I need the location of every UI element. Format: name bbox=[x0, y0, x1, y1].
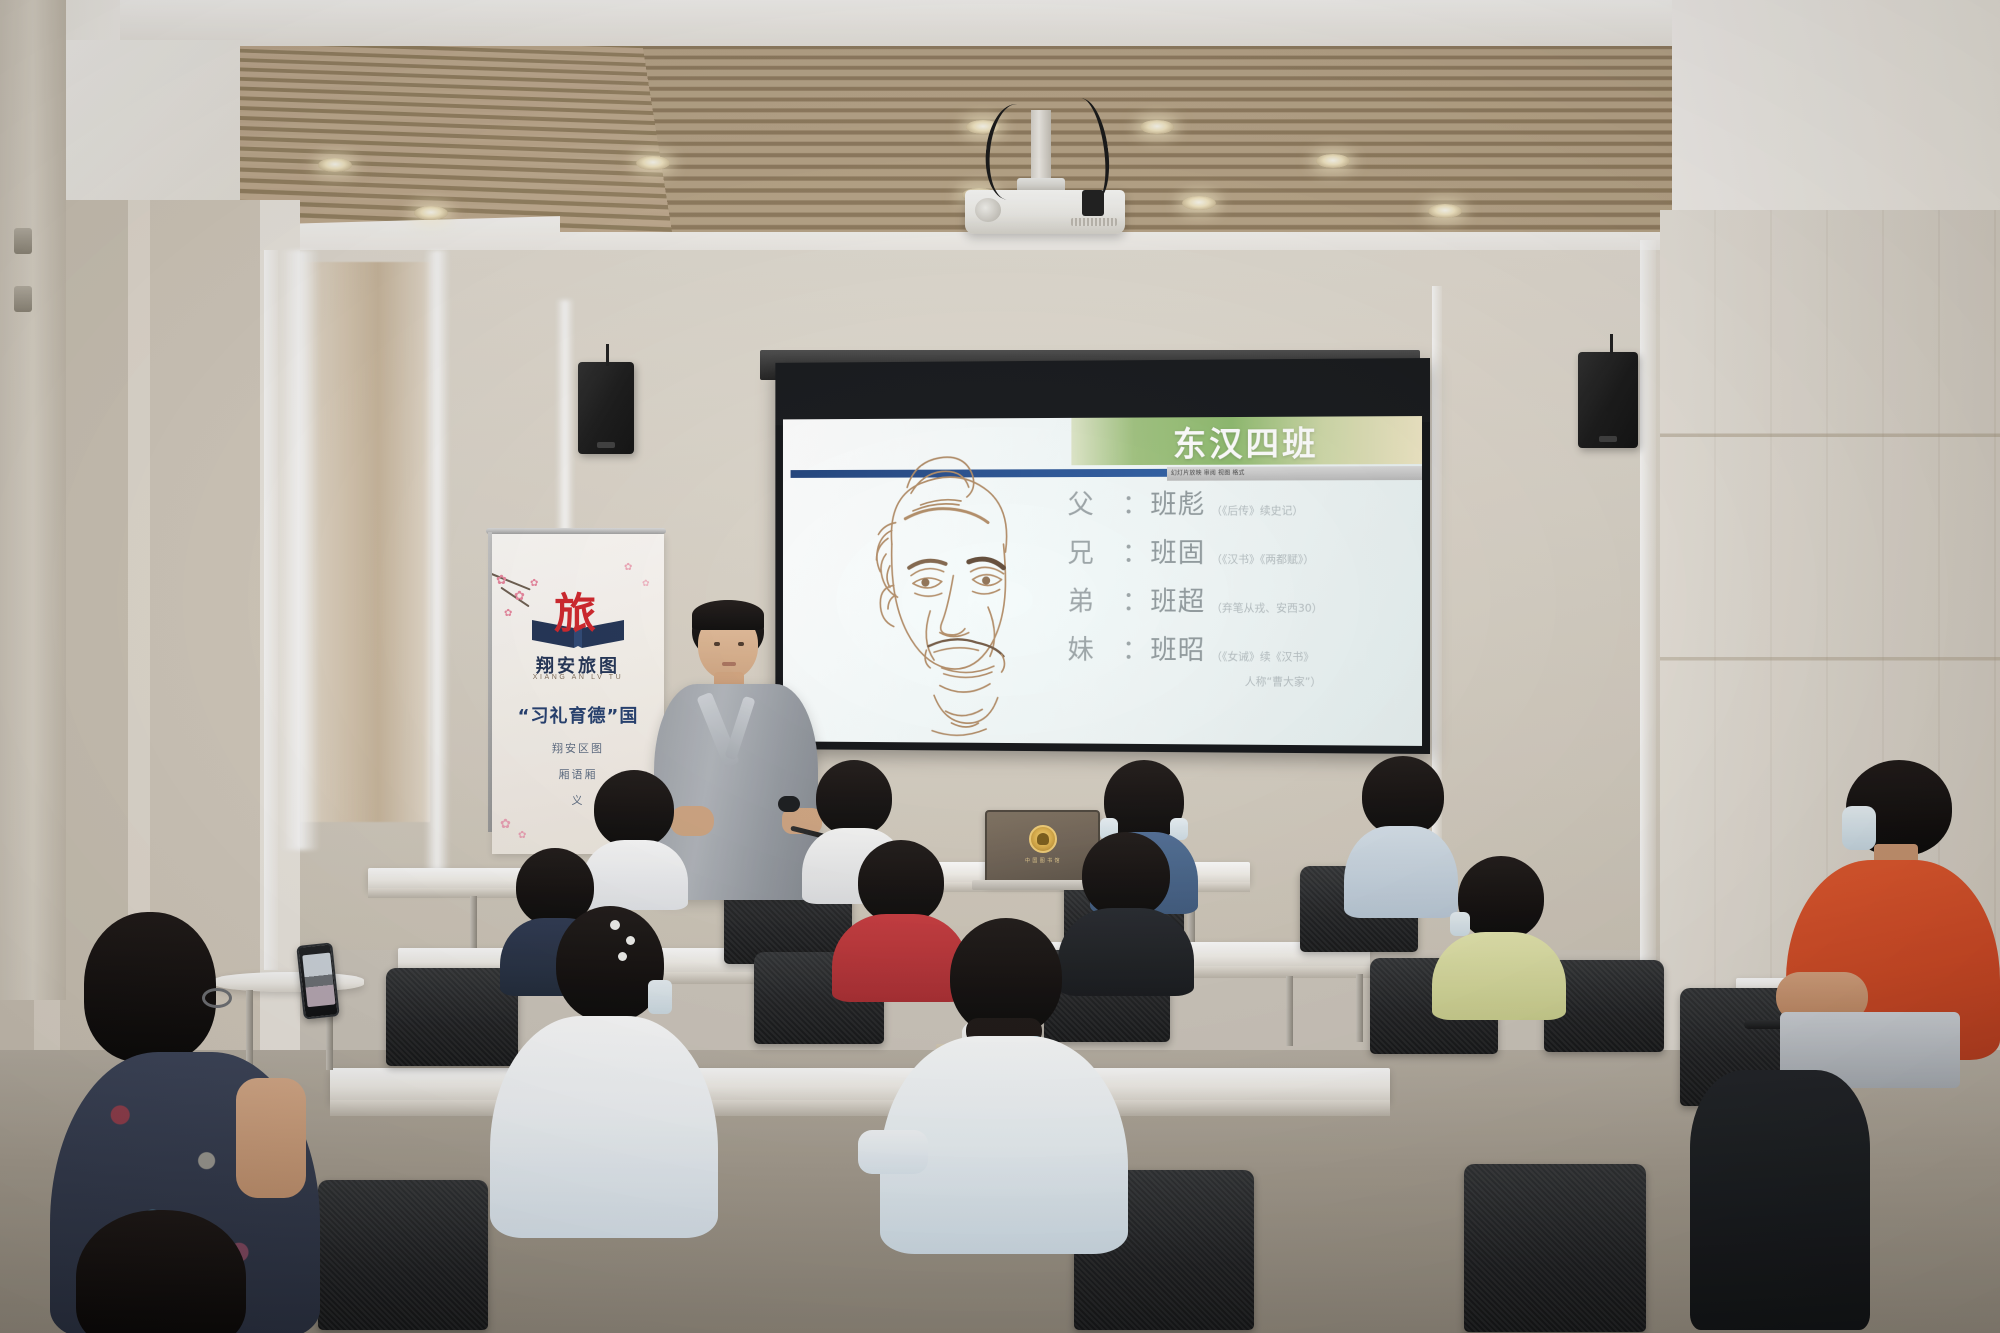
slide-row-colon: ： bbox=[1122, 483, 1148, 522]
plum-blossom-icon: ✿ bbox=[518, 830, 526, 841]
downlight-icon bbox=[1428, 204, 1462, 218]
chair[interactable] bbox=[1464, 1164, 1646, 1332]
plum-blossom-icon: ✿ bbox=[500, 816, 511, 832]
slide-row: 兄 ： 班固 （《汉书》《两都赋》） bbox=[1067, 531, 1422, 570]
adult-arm bbox=[236, 1078, 306, 1198]
slide-row-note: （《后传》续史记） bbox=[1211, 502, 1303, 521]
downlight-icon bbox=[636, 156, 670, 170]
slide-title: 东汉四班 bbox=[1173, 416, 1319, 465]
student-arm bbox=[858, 1130, 928, 1174]
table-row3-front bbox=[330, 1068, 1390, 1102]
cable-clip bbox=[1082, 190, 1104, 216]
door-hinge-icon bbox=[14, 286, 32, 312]
presentation-slide: 幻灯片放映 审阅 视图 格式 bbox=[783, 416, 1422, 746]
slide-row-colon: ： bbox=[1122, 628, 1148, 667]
slide-row-colon: ： bbox=[1122, 531, 1148, 570]
adult-hair bbox=[84, 912, 216, 1062]
slide-row-colon: ： bbox=[1122, 580, 1148, 619]
projector-lens-icon bbox=[975, 198, 1001, 222]
door-hinge-icon bbox=[14, 228, 32, 254]
wall-speaker-right bbox=[1578, 352, 1638, 448]
plum-blossom-icon: ✿ bbox=[624, 562, 632, 573]
banner-logo-pinyin: XIANG AN LV TU bbox=[492, 674, 664, 681]
downlight-icon bbox=[1140, 120, 1174, 134]
adult-hair bbox=[76, 1210, 246, 1333]
slide-row-name: 班超 bbox=[1150, 580, 1205, 619]
classroom-photo-scene: 幻灯片放映 审阅 视图 格式 bbox=[0, 0, 2000, 1333]
folding-door-left[interactable] bbox=[0, 0, 66, 1000]
runner-logo-icon: 旅 bbox=[554, 592, 604, 638]
wrist-band bbox=[778, 796, 800, 812]
plum-blossom-icon: ✿ bbox=[642, 578, 650, 589]
window-light-glow bbox=[424, 250, 450, 890]
instructor-eye bbox=[714, 642, 720, 646]
slide-text-block: 父 ： 班彪 （《后传》续史记） 兄 ： 班固 （《汉书》《两都赋》） 弟 ： … bbox=[1067, 482, 1422, 690]
person-student bbox=[880, 918, 1130, 1248]
table-leg bbox=[1356, 974, 1363, 1042]
slide-row-note: （《汉书》《两都赋》） bbox=[1211, 551, 1314, 570]
slide-row-relation: 兄 bbox=[1067, 531, 1125, 570]
laptop-emblem-icon bbox=[1029, 825, 1057, 853]
downlight-icon bbox=[414, 206, 448, 220]
student-hair bbox=[594, 770, 674, 848]
wall-speaker-left bbox=[578, 362, 634, 454]
hair-pin-icon bbox=[610, 920, 620, 930]
wall-light-strip bbox=[264, 250, 278, 970]
plum-blossom-icon: ✿ bbox=[530, 578, 538, 589]
adult-dark-clothing bbox=[1690, 1070, 1870, 1330]
plum-blossom-icon: ✿ bbox=[504, 608, 512, 619]
phone-screen[interactable] bbox=[302, 953, 335, 1008]
banner-headline: “习礼育德”国 bbox=[492, 702, 664, 728]
slide-row-relation: 妹 bbox=[1067, 628, 1125, 667]
student-hair bbox=[858, 840, 944, 924]
speaker-wire bbox=[1610, 334, 1613, 354]
person-adult bbox=[50, 1210, 280, 1333]
student-hair bbox=[816, 760, 892, 836]
student-top bbox=[1432, 932, 1566, 1020]
person-adult bbox=[1690, 1010, 1870, 1330]
instructor-mouth bbox=[722, 662, 736, 666]
plum-blossom-icon: ✿ bbox=[514, 588, 525, 604]
student-hair bbox=[1458, 856, 1544, 940]
plum-blossom-icon: ✿ bbox=[496, 572, 507, 588]
slide-row-name: 班昭 bbox=[1150, 628, 1205, 667]
downlight-icon bbox=[318, 158, 352, 172]
slide-row-relation: 弟 bbox=[1067, 580, 1125, 619]
student-hair bbox=[1082, 832, 1170, 918]
slide-row-note: （《女诫》续《汉书》 bbox=[1211, 648, 1314, 667]
projection-screen: 幻灯片放映 审阅 视图 格式 bbox=[775, 358, 1430, 754]
smartphone[interactable] bbox=[296, 942, 340, 1019]
slide-row-note: （弃笔从戎、安西30） bbox=[1211, 600, 1322, 619]
screen-dark-border bbox=[775, 358, 1430, 425]
wall-corner bbox=[1640, 240, 1656, 1060]
instructor-eye bbox=[738, 642, 744, 646]
laptop-emblem-text: 中 国 图 书 馆 bbox=[1025, 857, 1060, 864]
slide-row: 妹 ： 班昭 （《女诫》续《汉书》 bbox=[1067, 628, 1422, 668]
face-mask bbox=[1450, 912, 1470, 936]
hair-pin-icon bbox=[626, 936, 635, 945]
face-mask bbox=[1842, 806, 1876, 850]
face-mask bbox=[648, 980, 672, 1014]
slide-row: 父 ： 班彪 （《后传》续史记） bbox=[1067, 482, 1422, 521]
slide-row: 弟 ： 班超 （弃笔从戎、安西30） bbox=[1067, 580, 1422, 619]
table-leg bbox=[1286, 976, 1293, 1046]
chair[interactable] bbox=[318, 1180, 488, 1330]
powerpoint-toolbar[interactable]: 幻灯片放映 审阅 视图 格式 bbox=[1167, 466, 1422, 481]
instructor-hair-top bbox=[692, 600, 764, 630]
slide-row-name: 班固 bbox=[1150, 531, 1205, 570]
table-edge bbox=[330, 1100, 1390, 1116]
student-blouse bbox=[490, 1016, 718, 1238]
hair-pin-icon bbox=[618, 952, 627, 961]
downlight-icon bbox=[1316, 154, 1350, 168]
banner-line-1: 翔安区图 bbox=[492, 740, 664, 756]
downlight-icon bbox=[1182, 196, 1216, 210]
person-student bbox=[1432, 856, 1568, 1016]
projector-vent bbox=[1071, 218, 1117, 226]
slide-note-second-line: 人称“曹大家”） bbox=[1145, 673, 1422, 690]
student-hair bbox=[1362, 756, 1444, 836]
window-light-glow bbox=[280, 250, 320, 850]
scholar-portrait-illustration bbox=[800, 428, 1079, 739]
eyeglasses-icon bbox=[202, 988, 232, 1008]
speaker-wire bbox=[606, 344, 609, 366]
slide-title-band: 东汉四班 bbox=[1071, 416, 1422, 465]
table-leg bbox=[470, 896, 477, 956]
person-student bbox=[490, 906, 720, 1236]
slide-row-relation: 父 bbox=[1067, 483, 1125, 522]
slide-row-name: 班彪 bbox=[1150, 483, 1205, 522]
